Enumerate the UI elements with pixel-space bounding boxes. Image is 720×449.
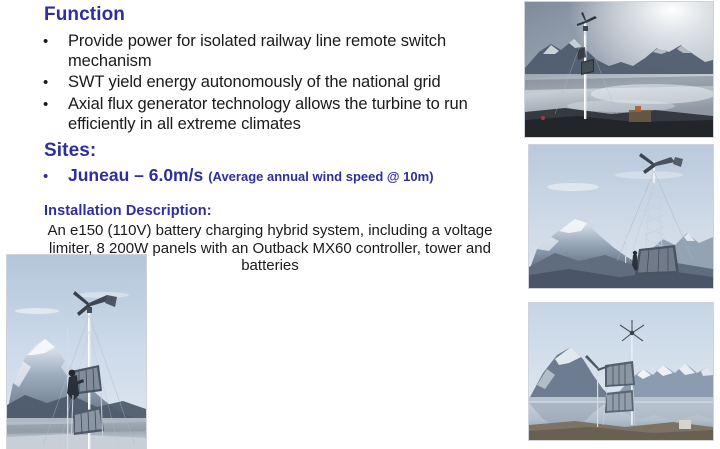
bullet-icon: •: [36, 94, 68, 115]
list-item: • Axial flux generator technology allows…: [36, 94, 516, 134]
photo-turbine-reflection: [529, 303, 713, 440]
photo-turbine-sunlit-bay-art: [525, 2, 713, 137]
site-wind-speed-note: (Average annual wind speed @ 10m): [208, 169, 433, 184]
list-item: • SWT yield energy autonomously of the n…: [36, 72, 516, 93]
function-bullet-list: • Provide power for isolated railway lin…: [36, 31, 516, 135]
site-name-and-speed: Juneau – 6.0m/s: [68, 165, 203, 186]
photo-turbine-reflection-art: [529, 303, 713, 440]
function-bullet-text: Axial flux generator technology allows t…: [68, 94, 516, 134]
function-heading: Function: [44, 4, 125, 26]
photo-technician-climbing-tower: [7, 255, 146, 449]
photo-turbine-lattice-tower: [529, 145, 713, 288]
photo-turbine-sunlit-bay: [525, 2, 713, 137]
installation-description-heading: Installation Description:: [44, 203, 212, 219]
photo-technician-climbing-tower-art: [7, 255, 146, 449]
photo-turbine-lattice-tower-art: [529, 145, 713, 288]
function-bullet-text: SWT yield energy autonomously of the nat…: [68, 72, 516, 92]
site-list-item: • Juneau – 6.0m/s (Average annual wind s…: [36, 165, 526, 186]
sites-heading: Sites:: [44, 140, 96, 162]
bullet-icon: •: [36, 31, 68, 52]
function-bullet-text: Provide power for isolated railway line …: [68, 31, 516, 71]
list-item: • Provide power for isolated railway lin…: [36, 31, 516, 71]
bullet-icon: •: [36, 72, 68, 93]
bullet-icon: •: [36, 168, 68, 185]
